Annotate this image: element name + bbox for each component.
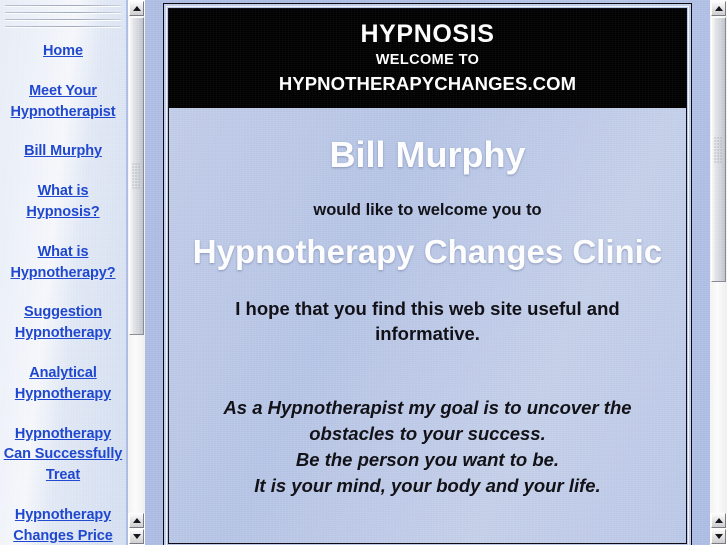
divider-line (5, 26, 121, 27)
list-item: Home (2, 41, 124, 62)
sidebar-item-home[interactable]: Home (43, 43, 83, 59)
content-panel-outer-border: HYPNOSIS WELCOME TO HYPNOTHERAPYCHANGES.… (163, 3, 692, 545)
list-item: Bill Murphy (2, 141, 124, 162)
welcome-subline: would like to welcome you to (191, 200, 664, 221)
banner-subtitle: WELCOME TO (175, 50, 680, 71)
triangle-down-icon (133, 534, 141, 539)
site-banner: HYPNOSIS WELCOME TO HYPNOTHERAPYCHANGES.… (169, 9, 686, 108)
sidebar-scroll-down-button[interactable] (129, 529, 144, 544)
banner-title: HYPNOSIS (175, 20, 680, 48)
divider-line (5, 19, 121, 20)
divider-line (5, 12, 121, 13)
main-content: HYPNOSIS WELCOME TO HYPNOTHERAPYCHANGES.… (168, 8, 687, 544)
list-item: What is Hypnotherapy? (2, 242, 124, 284)
triangle-up-icon (715, 518, 723, 523)
quote-line-3: It is your mind, your body and your life… (199, 473, 656, 499)
sidebar-scroll-up-button[interactable] (129, 1, 144, 16)
hope-paragraph: I hope that you find this web site usefu… (205, 297, 650, 347)
sidebar-item-what-is-hypnosis[interactable]: What is Hypnosis? (26, 183, 99, 220)
list-item: What is Hypnosis? (2, 181, 124, 223)
banner-domain: HYPNOTHERAPYCHANGES.COM (175, 72, 680, 95)
page-title: Bill Murphy (191, 133, 664, 176)
page-scrollbar-thumb[interactable] (711, 17, 726, 282)
sidebar-item-what-is-hypnotherapy[interactable]: What is Hypnotherapy? (10, 244, 115, 281)
divider-line (5, 5, 121, 6)
page-scrollbar[interactable] (710, 0, 727, 545)
triangle-up-icon (715, 6, 723, 11)
triangle-up-icon (133, 518, 141, 523)
sidebar-item-hypnotherapy-changes-price[interactable]: Hypnotherapy Changes Price (13, 507, 112, 544)
mission-quote: As a Hypnotherapist my goal is to uncove… (199, 395, 656, 499)
grip-dots-icon (132, 163, 141, 189)
page-scroll-up-button-bottom[interactable] (711, 513, 726, 528)
sidebar-nav-panel: Home Meet Your Hypnotherapist Bill Murph… (0, 0, 126, 545)
sidebar-item-hypnotherapy-can-successfully-treat[interactable]: Hypnotherapy Can Successfully Treat (4, 426, 122, 484)
list-item: Suggestion Hypnotherapy (2, 302, 124, 344)
sidebar-scroll-up-button-bottom[interactable] (129, 513, 144, 528)
sidebar-item-suggestion-hypnotherapy[interactable]: Suggestion Hypnotherapy (15, 304, 111, 341)
page-scroll-up-button[interactable] (711, 1, 726, 16)
browser-viewport: Home Meet Your Hypnotherapist Bill Murph… (0, 0, 727, 545)
list-item: Meet Your Hypnotherapist (2, 81, 124, 123)
sidebar-region: Home Meet Your Hypnotherapist Bill Murph… (0, 0, 149, 545)
sidebar-link-list: Home Meet Your Hypnotherapist Bill Murph… (0, 33, 126, 545)
content-panel-middle-border: HYPNOSIS WELCOME TO HYPNOTHERAPYCHANGES.… (166, 6, 689, 545)
triangle-down-icon (715, 534, 723, 539)
sidebar-divider-group (0, 0, 126, 27)
list-item: Hypnotherapy Changes Price (2, 505, 124, 545)
list-item: Hypnotherapy Can Successfully Treat (2, 424, 124, 486)
sidebar-scrollbar-thumb[interactable] (129, 17, 144, 335)
page-scroll-down-button[interactable] (711, 529, 726, 544)
sidebar-item-meet-your-hypnotherapist[interactable]: Meet Your Hypnotherapist (11, 83, 116, 120)
sidebar-item-bill-murphy[interactable]: Bill Murphy (24, 143, 102, 159)
welcome-article: Bill Murphy would like to welcome you to… (169, 108, 686, 499)
clinic-heading: Hypnotherapy Changes Clinic (191, 232, 664, 272)
sidebar-item-analytical-hypnotherapy[interactable]: Analytical Hypnotherapy (15, 365, 111, 402)
list-item: Analytical Hypnotherapy (2, 363, 124, 405)
sidebar-scrollbar[interactable] (128, 0, 145, 545)
grip-dots-icon (714, 137, 723, 163)
quote-line-1: As a Hypnotherapist my goal is to uncove… (199, 395, 656, 447)
triangle-up-icon (133, 6, 141, 11)
quote-line-2: Be the person you want to be. (199, 447, 656, 473)
